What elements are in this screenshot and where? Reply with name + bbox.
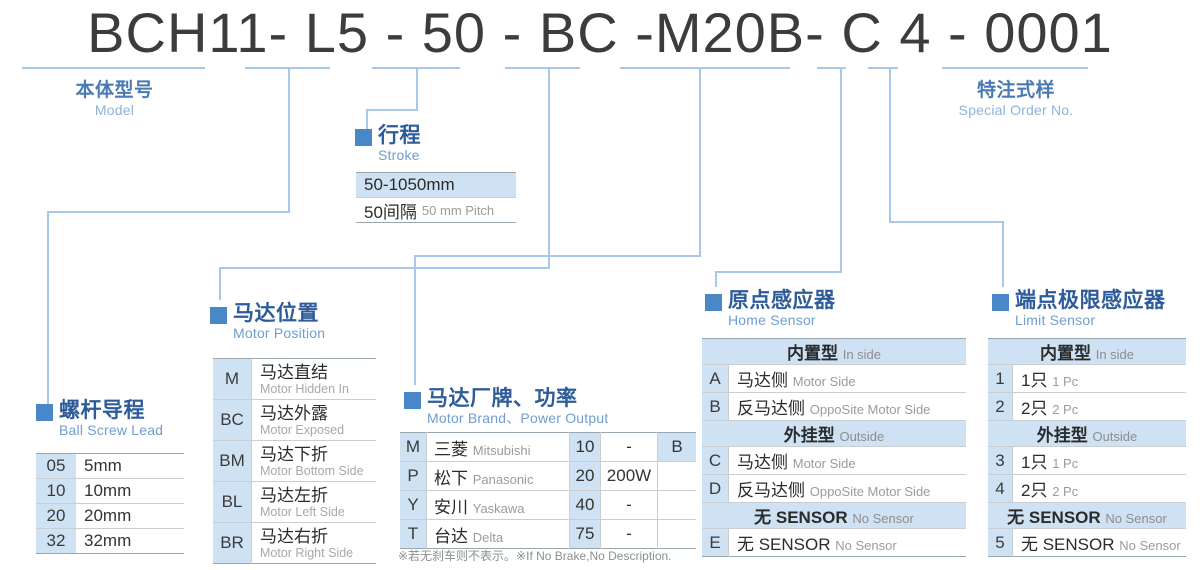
value-cn: 马达直结 [260,363,376,382]
table-row: 2020mm [36,504,184,529]
table-row: 22只 2 Pc [988,393,1186,421]
table-row: B反马达侧 OppoSite Motor Side [702,393,966,421]
table-row: Y安川 Yaskawa40- [400,491,696,520]
brake-code-cell [658,520,697,549]
label-model: 本体型号 Model [22,80,207,119]
value-en: Motor Bottom Side [260,464,376,478]
group-cn: 外挂型 [784,426,840,445]
wire-motor-brand [415,68,700,385]
table-row: BM马达下折Motor Bottom Side [213,441,376,482]
value-cn: 反马达侧 [737,399,810,418]
table-row: BR马达右折Motor Right Side [213,523,376,564]
group-cn: 外挂型 [1037,426,1093,445]
power-code-cell[interactable]: 75 [570,520,601,549]
sensor-code-cell[interactable]: 3 [988,447,1013,475]
power-code-cell[interactable]: 20 [570,462,601,491]
stroke-pitch-en: 50 mm Pitch [422,203,494,218]
value-cn: 无 SENSOR [1021,535,1119,554]
lead-value-cell: 32mm [76,529,184,554]
brand-cn: 安川 [434,498,473,517]
motor-position-value-cell: 马达左折Motor Left Side [252,482,377,523]
section-motor-position: 马达位置 Motor Position [210,303,325,342]
value-en: Motor Side [793,374,856,389]
group-header-cell: 外挂型 Outside [988,421,1186,447]
sensor-value-cell: 马达侧 Motor Side [729,365,967,393]
ball-screw-lead-table: 055mm1010mm2020mm3232mm [36,453,184,554]
motor-position-value-cell: 马达右折Motor Right Side [252,523,377,564]
section-stroke: 行程 Stroke [355,125,421,164]
label-special-order: 特注式样 Special Order No. [930,80,1102,119]
brand-code-cell[interactable]: M [400,433,427,462]
power-value-cell: - [601,520,658,549]
group-cn: 无 SENSOR [1007,508,1105,527]
lead-value-cell: 20mm [76,504,184,529]
value-cn: 马达下折 [260,445,376,464]
table-row: T台达 Delta75- [400,520,696,549]
value-en: No Sensor [835,538,896,553]
table-row: A马达侧 Motor Side [702,365,966,393]
home-sensor-table: 内置型 In sideA马达侧 Motor SideB反马达侧 OppoSite… [702,338,966,557]
sensor-code-cell[interactable]: 4 [988,475,1013,503]
value-cn: 1只 [1021,371,1052,390]
motor-position-code-cell[interactable]: M [213,359,252,400]
value-en: 1 Pc [1052,456,1078,471]
value-en: Motor Right Side [260,546,376,560]
group-header-row: 无 SENSOR No Sensor [702,503,966,529]
stroke-pitch-cn: 50间隔 [364,198,417,223]
brand-name-cell: 安川 Yaskawa [427,491,570,520]
brand-en: Mitsubishi [473,443,531,458]
limit-sensor-table: 内置型 In side11只 1 Pc22只 2 Pc外挂型 Outside31… [988,338,1186,557]
brand-code-cell[interactable]: T [400,520,427,549]
group-header-cell: 外挂型 Outside [702,421,966,447]
table-row: P松下 Panasonic20200W [400,462,696,491]
bullet-square-icon [992,294,1009,311]
group-en: In side [843,347,881,362]
motor-position-value-cell: 马达下折Motor Bottom Side [252,441,377,482]
sensor-code-cell[interactable]: 5 [988,529,1013,557]
table-row: 5无 SENSOR No Sensor [988,529,1186,557]
group-header-cell: 无 SENSOR No Sensor [988,503,1186,529]
group-header-cell: 无 SENSOR No Sensor [702,503,966,529]
wire-stroke [367,68,417,132]
group-en: Outside [1092,429,1137,444]
group-header-row: 外挂型 Outside [702,421,966,447]
brand-cn: 三菱 [434,440,473,459]
brand-en: Panasonic [473,472,534,487]
brand-name-cell: 三菱 Mitsubishi [427,433,570,462]
sensor-value-cell: 无 SENSOR No Sensor [1013,529,1187,557]
brand-cn: 台达 [434,527,473,546]
brake-code-cell[interactable]: B [658,433,697,462]
sensor-code-cell[interactable]: E [702,529,729,557]
bullet-square-icon [36,404,53,421]
bullet-square-icon [404,392,421,409]
group-header-cell: 内置型 In side [988,339,1186,365]
motor-position-code-cell[interactable]: BC [213,400,252,441]
motor-position-table: M马达直结Motor Hidden InBC马达外露Motor ExposedB… [213,358,376,564]
table-row: E无 SENSOR No Sensor [702,529,966,557]
table-row: D反马达侧 OppoSite Motor Side [702,475,966,503]
value-en: Motor Left Side [260,505,376,519]
bullet-square-icon [705,294,722,311]
sensor-value-cell: 1只 1 Pc [1013,365,1187,393]
motor-position-code-cell[interactable]: BM [213,441,252,482]
brand-cn: 松下 [434,469,473,488]
table-row: M马达直结Motor Hidden In [213,359,376,400]
stroke-range-row: 50-1050mm [356,172,516,197]
table-row: BL马达左折Motor Left Side [213,482,376,523]
section-limit-sensor: 端点极限感应器 Limit Sensor [992,290,1166,329]
bullet-square-icon [355,129,372,146]
value-en: Motor Side [793,456,856,471]
table-row: 1010mm [36,479,184,504]
group-en: No Sensor [852,511,913,526]
group-cn: 内置型 [787,344,843,363]
value-cn: 1只 [1021,453,1052,472]
group-header-row: 外挂型 Outside [988,421,1186,447]
motor-brand-table: M三菱 Mitsubishi10-BP松下 Panasonic20200WY安川… [400,432,696,549]
brake-code-cell [658,491,697,520]
value-en: 2 Pc [1052,484,1078,499]
group-header-row: 内置型 In side [702,339,966,365]
group-header-cell: 内置型 In side [702,339,966,365]
sensor-value-cell: 2只 2 Pc [1013,475,1187,503]
table-row: M三菱 Mitsubishi10-B [400,433,696,462]
stroke-table: 50-1050mm 50间隔 50 mm Pitch [356,172,516,223]
brake-code-cell [658,462,697,491]
home-sensor-body: 内置型 In sideA马达侧 Motor SideB反马达侧 OppoSite… [702,339,966,557]
value-en: No Sensor [1119,538,1180,553]
value-cn: 无 SENSOR [737,535,835,554]
value-cn: 马达侧 [737,453,793,472]
sensor-code-cell[interactable]: 1 [988,365,1013,393]
value-en: OppoSite Motor Side [810,484,931,499]
group-header-row: 内置型 In side [988,339,1186,365]
table-row: C马达侧 Motor Side [702,447,966,475]
sensor-value-cell: 反马达侧 OppoSite Motor Side [729,393,967,421]
sensor-code-cell[interactable]: D [702,475,729,503]
model-code-diagram: BCH11- L5 - 50 - BC -M20B- C 4 - 0001 [0,0,1200,570]
value-cn: 马达右折 [260,527,376,546]
motor-brand-note: ※若无刹车则不表示。※If No Brake,No Description. [398,547,672,564]
motor-brand-body: M三菱 Mitsubishi10-BP松下 Panasonic20200WY安川… [400,433,696,549]
sensor-value-cell: 无 SENSOR No Sensor [729,529,967,557]
sensor-value-cell: 1只 1 Pc [1013,447,1187,475]
power-value-cell: - [601,491,658,520]
brand-code-cell[interactable]: Y [400,491,427,520]
table-row: 11只 1 Pc [988,365,1186,393]
stroke-range: 50-1050mm [364,175,455,195]
sensor-code-cell[interactable]: B [702,393,729,421]
value-en: Motor Hidden In [260,382,376,396]
value-cn: 马达外露 [260,404,376,423]
brand-en: Delta [473,530,503,545]
value-cn: 2只 [1021,399,1052,418]
value-en: Motor Exposed [260,423,376,437]
power-value-cell: - [601,433,658,462]
part-code-string: BCH11- L5 - 50 - BC -M20B- C 4 - 0001 [0,2,1200,64]
group-en: In side [1096,347,1134,362]
lead-value-cell: 5mm [76,454,184,479]
lead-code-cell[interactable]: 05 [36,454,76,479]
group-header-row: 无 SENSOR No Sensor [988,503,1186,529]
ball-screw-lead-body: 055mm1010mm2020mm3232mm [36,454,184,554]
table-row: 42只 2 Pc [988,475,1186,503]
table-row: BC马达外露Motor Exposed [213,400,376,441]
table-row: 3232mm [36,529,184,554]
brand-code-cell[interactable]: P [400,462,427,491]
lead-value-cell: 10mm [76,479,184,504]
motor-position-body: M马达直结Motor Hidden InBC马达外露Motor ExposedB… [213,359,376,564]
lead-code-cell[interactable]: 10 [36,479,76,504]
power-code-cell[interactable]: 40 [570,491,601,520]
value-cn: 马达左折 [260,486,376,505]
motor-position-value-cell: 马达直结Motor Hidden In [252,359,377,400]
limit-sensor-body: 内置型 In side11只 1 Pc22只 2 Pc外挂型 Outside31… [988,339,1186,557]
bullet-square-icon [210,307,227,324]
stroke-pitch-row: 50间隔 50 mm Pitch [356,197,516,223]
section-motor-brand: 马达厂牌、功率 Motor Brand、Power Output [404,388,608,427]
sensor-value-cell: 马达侧 Motor Side [729,447,967,475]
value-en: 1 Pc [1052,374,1078,389]
value-en: 2 Pc [1052,402,1078,417]
section-home-sensor: 原点感应器 Home Sensor [705,290,836,329]
group-en: Outside [839,429,884,444]
wire-home-sensor [716,68,841,287]
group-cn: 内置型 [1040,344,1096,363]
sensor-value-cell: 反马达侧 OppoSite Motor Side [729,475,967,503]
sensor-value-cell: 2只 2 Pc [1013,393,1187,421]
motor-position-value-cell: 马达外露Motor Exposed [252,400,377,441]
lead-code-cell[interactable]: 20 [36,504,76,529]
motor-position-code-cell[interactable]: BL [213,482,252,523]
lead-code-cell[interactable]: 32 [36,529,76,554]
group-cn: 无 SENSOR [754,508,852,527]
wire-ball-screw-lead [48,68,289,408]
brand-en: Yaskawa [473,501,525,516]
table-row: 31只 1 Pc [988,447,1186,475]
value-en: OppoSite Motor Side [810,402,931,417]
value-cn: 2只 [1021,481,1052,500]
section-ball-screw-lead: 螺杆导程 Ball Screw Lead [36,400,163,439]
value-cn: 马达侧 [737,371,793,390]
power-value-cell: 200W [601,462,658,491]
group-en: No Sensor [1105,511,1166,526]
table-row: 055mm [36,454,184,479]
sensor-code-cell[interactable]: C [702,447,729,475]
brand-name-cell: 台达 Delta [427,520,570,549]
motor-position-code-cell[interactable]: BR [213,523,252,564]
brand-name-cell: 松下 Panasonic [427,462,570,491]
sensor-code-cell[interactable]: A [702,365,729,393]
power-code-cell[interactable]: 10 [570,433,601,462]
value-cn: 反马达侧 [737,481,810,500]
sensor-code-cell[interactable]: 2 [988,393,1013,421]
